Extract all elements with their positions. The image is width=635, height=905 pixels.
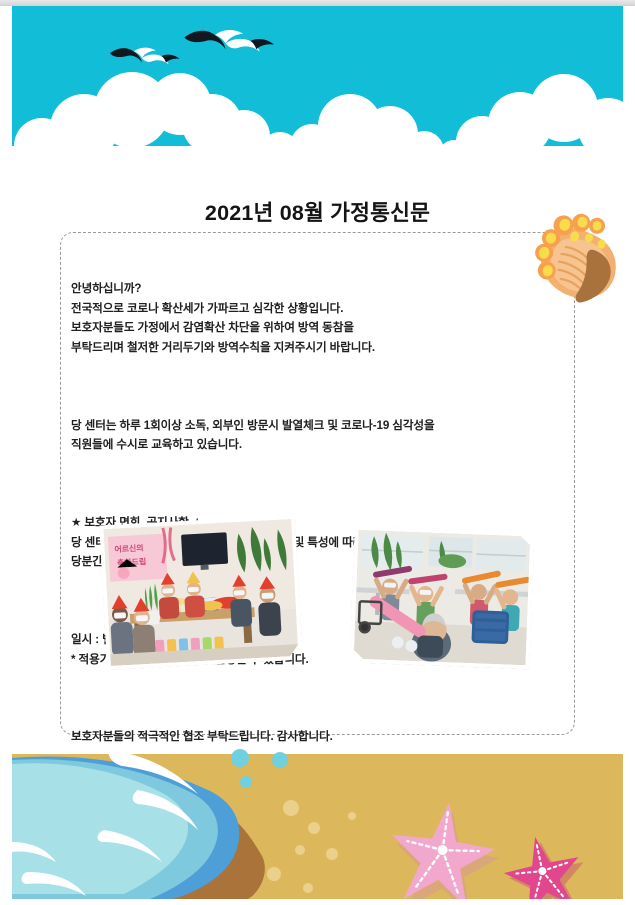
svg-text:어르신의: 어르신의 bbox=[114, 543, 144, 555]
body-paragraph: 당 센터는 하루 1회이상 소독, 외부인 방문시 발열체크 및 코로나-19 … bbox=[71, 416, 571, 455]
newsletter-page: 2021년 08월 가정통신문 bbox=[0, 0, 635, 905]
photo-image: 어르신의 축하드립 bbox=[103, 519, 298, 666]
photo-image bbox=[354, 530, 531, 666]
exercise-activity-photo bbox=[349, 526, 534, 670]
beach-footer bbox=[12, 746, 623, 899]
body-paragraph: 보호자분들의 적극적인 협조 부탁드립니다. 감사합니다. bbox=[71, 727, 571, 747]
sky-banner bbox=[12, 6, 623, 171]
body-paragraph: 안녕하십니까? 전국적으로 코로나 확산세가 가파르고 심각한 상황입니다. 보… bbox=[71, 279, 571, 357]
birthday-celebration-photo: 어르신의 축하드립 bbox=[99, 515, 303, 670]
newsletter-body: 안녕하십니까? 전국적으로 코로나 확산세가 가파르고 심각한 상황입니다. 보… bbox=[71, 240, 571, 786]
